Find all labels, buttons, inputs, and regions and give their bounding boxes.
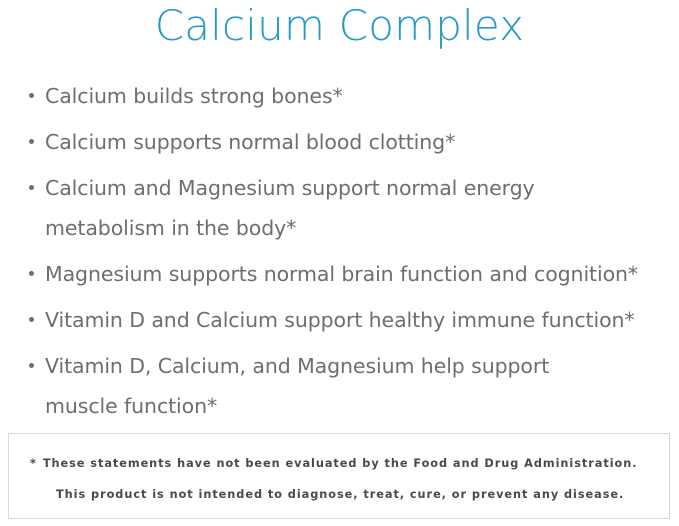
benefit-text: Vitamin D, Calcium, and Magnesium help s… — [45, 346, 565, 426]
bullet-dot-icon — [29, 93, 34, 98]
page-title: Calcium Complex — [0, 0, 679, 54]
list-item: Calcium and Magnesium support normal ene… — [26, 168, 666, 248]
list-item: Calcium builds strong bones* — [26, 76, 666, 116]
bullet-dot-icon — [29, 139, 34, 144]
disclaimer-line-2: This product is not intended to diagnose… — [56, 488, 624, 502]
bullet-dot-icon — [29, 271, 34, 276]
benefit-text: Magnesium supports normal brain function… — [45, 254, 665, 294]
list-item: Vitamin D and Calcium support healthy im… — [26, 300, 666, 340]
benefit-text: Vitamin D and Calcium support healthy im… — [45, 300, 665, 340]
benefit-text: Calcium and Magnesium support normal ene… — [45, 168, 565, 248]
bullet-dot-icon — [29, 363, 34, 368]
list-item: Magnesium supports normal brain function… — [26, 254, 666, 294]
list-item: Vitamin D, Calcium, and Magnesium help s… — [26, 346, 666, 426]
benefit-text: Calcium builds strong bones* — [45, 76, 665, 116]
fda-disclaimer-box: *These statements have not been evaluate… — [8, 433, 670, 519]
benefits-list: Calcium builds strong bones* Calcium sup… — [26, 76, 666, 432]
bullet-dot-icon — [29, 317, 34, 322]
asterisk-marker: * — [30, 457, 37, 471]
product-benefits-panel: Calcium Complex Calcium builds strong bo… — [0, 0, 679, 526]
benefit-text: Calcium supports normal blood clotting* — [45, 122, 665, 162]
disclaimer-line-1-text: These statements have not been evaluated… — [43, 457, 638, 470]
disclaimer-line-1: *These statements have not been evaluate… — [30, 457, 638, 471]
bullet-dot-icon — [29, 185, 34, 190]
list-item: Calcium supports normal blood clotting* — [26, 122, 666, 162]
